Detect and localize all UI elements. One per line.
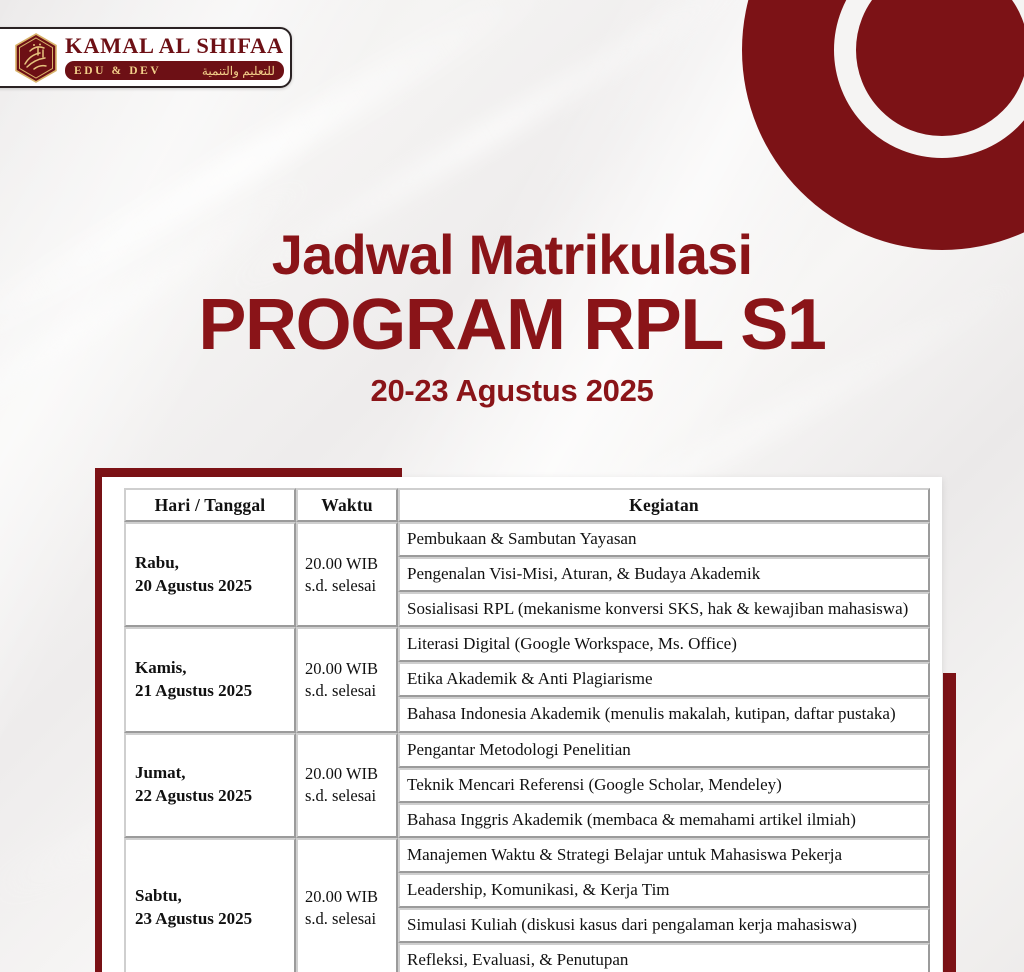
cell-kegiatan: Pembukaan & Sambutan Yayasan	[398, 522, 930, 557]
cell-kegiatan: Pengantar Metodologi Penelitian	[398, 733, 930, 768]
decorative-ring-graphic	[742, 0, 1024, 250]
cell-kegiatan: Sosialisasi RPL (mekanisme konversi SKS,…	[398, 592, 930, 627]
table-row: Jumat,22 Agustus 202520.00 WIBs.d. seles…	[124, 733, 930, 768]
cell-hari-tanggal: Jumat,22 Agustus 2025	[124, 733, 296, 838]
schedule-table: Hari / Tanggal Waktu Kegiatan Rabu,20 Ag…	[124, 488, 930, 972]
cell-kegiatan: Leadership, Komunikasi, & Kerja Tim	[398, 873, 930, 908]
time-until: s.d. selesai	[305, 575, 396, 597]
day-name: Sabtu,	[135, 885, 294, 908]
time-until: s.d. selesai	[305, 908, 396, 930]
decorative-disc	[742, 0, 1024, 250]
cell-waktu: 20.00 WIBs.d. selesai	[296, 733, 398, 838]
brand-tagline-ar: للتعليم والتنمية	[196, 64, 275, 78]
cell-waktu: 20.00 WIBs.d. selesai	[296, 838, 398, 972]
brand-logo-text: KAMAL AL SHIFAA EDU & DEV للتعليم والتنم…	[65, 35, 284, 81]
headline-block: Jadwal Matrikulasi PROGRAM RPL S1 20-23 …	[0, 226, 1024, 409]
brand-tagline-pill: EDU & DEV للتعليم والتنمية	[65, 61, 284, 80]
column-header-waktu: Waktu	[296, 488, 398, 522]
time-start: 20.00 WIB	[305, 763, 396, 785]
time-until: s.d. selesai	[305, 785, 396, 807]
poster-canvas: KAMAL AL SHIFAA EDU & DEV للتعليم والتنم…	[0, 0, 1024, 972]
column-header-kegiatan: Kegiatan	[398, 488, 930, 522]
hexagon-calligraphy-emblem-icon	[14, 33, 58, 83]
table-row: Sabtu,23 Agustus 202520.00 WIBs.d. seles…	[124, 838, 930, 873]
day-name: Rabu,	[135, 552, 294, 575]
cell-kegiatan: Literasi Digital (Google Workspace, Ms. …	[398, 627, 930, 662]
cell-hari-tanggal: Kamis,21 Agustus 2025	[124, 627, 296, 732]
cell-waktu: 20.00 WIBs.d. selesai	[296, 522, 398, 627]
cell-kegiatan: Manajemen Waktu & Strategi Belajar untuk…	[398, 838, 930, 873]
cell-kegiatan: Teknik Mencari Referensi (Google Scholar…	[398, 768, 930, 803]
cell-hari-tanggal: Sabtu,23 Agustus 2025	[124, 838, 296, 972]
day-date: 22 Agustus 2025	[135, 785, 294, 808]
table-row: Rabu,20 Agustus 202520.00 WIBs.d. selesa…	[124, 522, 930, 557]
column-header-hari: Hari / Tanggal	[124, 488, 296, 522]
decorative-ring-arc	[834, 0, 1024, 158]
time-until: s.d. selesai	[305, 680, 396, 702]
cell-kegiatan: Pengenalan Visi-Misi, Aturan, & Budaya A…	[398, 557, 930, 592]
headline-subtitle: Jadwal Matrikulasi	[0, 226, 1024, 285]
cell-kegiatan: Bahasa Inggris Akademik (membaca & memah…	[398, 803, 930, 838]
cell-hari-tanggal: Rabu,20 Agustus 2025	[124, 522, 296, 627]
time-start: 20.00 WIB	[305, 886, 396, 908]
brand-name: KAMAL AL SHIFAA	[65, 35, 284, 58]
brand-logo-badge: KAMAL AL SHIFAA EDU & DEV للتعليم والتنم…	[0, 27, 292, 88]
table-row: Kamis,21 Agustus 202520.00 WIBs.d. seles…	[124, 627, 930, 662]
cell-kegiatan: Refleksi, Evaluasi, & Penutupan	[398, 943, 930, 972]
cell-kegiatan: Simulasi Kuliah (diskusi kasus dari peng…	[398, 908, 930, 943]
day-name: Kamis,	[135, 657, 294, 680]
day-date: 20 Agustus 2025	[135, 575, 294, 598]
schedule-table-head: Hari / Tanggal Waktu Kegiatan	[124, 488, 930, 522]
page-title: PROGRAM RPL S1	[0, 287, 1024, 363]
cell-kegiatan: Etika Akademik & Anti Plagiarisme	[398, 662, 930, 697]
headline-daterange: 20-23 Agustus 2025	[0, 373, 1024, 409]
day-name: Jumat,	[135, 762, 294, 785]
day-date: 21 Agustus 2025	[135, 680, 294, 703]
day-date: 23 Agustus 2025	[135, 908, 294, 931]
schedule-card: Hari / Tanggal Waktu Kegiatan Rabu,20 Ag…	[102, 477, 942, 972]
time-start: 20.00 WIB	[305, 658, 396, 680]
cell-kegiatan: Bahasa Indonesia Akademik (menulis makal…	[398, 697, 930, 732]
time-start: 20.00 WIB	[305, 553, 396, 575]
cell-waktu: 20.00 WIBs.d. selesai	[296, 627, 398, 732]
table-header-row: Hari / Tanggal Waktu Kegiatan	[124, 488, 930, 522]
frame-accent-right	[943, 673, 956, 972]
brand-tagline-en: EDU & DEV	[74, 65, 161, 77]
schedule-table-body: Rabu,20 Agustus 202520.00 WIBs.d. selesa…	[124, 522, 930, 972]
